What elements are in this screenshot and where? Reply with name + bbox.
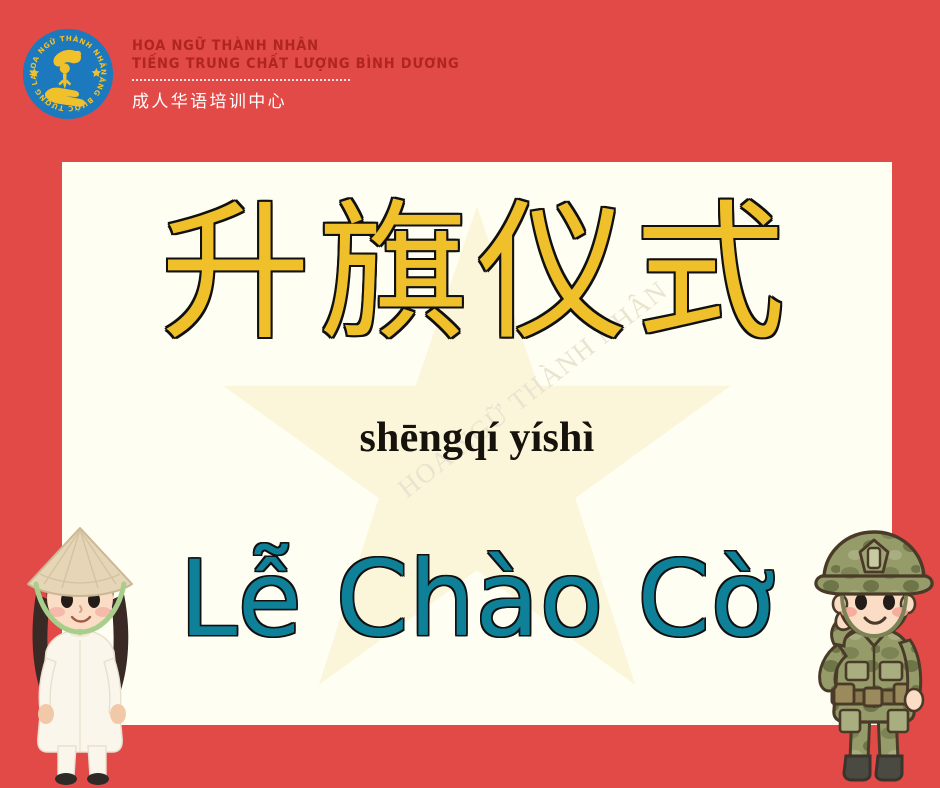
brand-line-secondary: TIẾNG TRUNG CHẤT LƯỢNG BÌNH DƯƠNG [132, 56, 460, 74]
brand-chinese-subtitle: 成人华语培训中心 [132, 87, 460, 112]
brand-header: HOA NGỮ THÀNH NHÂN NÂNG BƯỚC TƯƠNG LAI [0, 0, 940, 150]
pinyin-text: shēngqí yíshì [62, 414, 892, 462]
vietnamese-title: Lễ Chào Cờ [62, 542, 892, 656]
mascot-vietnamese-girl [2, 522, 164, 788]
hanzi-title: 升旗仪式 [62, 180, 892, 369]
brand-logo[interactable]: HOA NGỮ THÀNH NHÂN NÂNG BƯỚC TƯƠNG LAI [22, 28, 114, 120]
mascot-saluting-soldier [800, 524, 940, 788]
brand-divider [132, 79, 350, 81]
content-card: HOA NGỮ THÀNH NHÂN 升旗仪式 shēngqí yíshì Lễ… [62, 162, 892, 725]
poster-canvas: HOA NGỮ THÀNH NHÂN NÂNG BƯỚC TƯƠNG LAI [0, 0, 940, 788]
brand-text-block: HOA NGỮ THÀNH NHÂN TIẾNG TRUNG CHẤT LƯỢN… [132, 38, 460, 112]
brand-line-primary: HOA NGỮ THÀNH NHÂN [132, 38, 460, 56]
